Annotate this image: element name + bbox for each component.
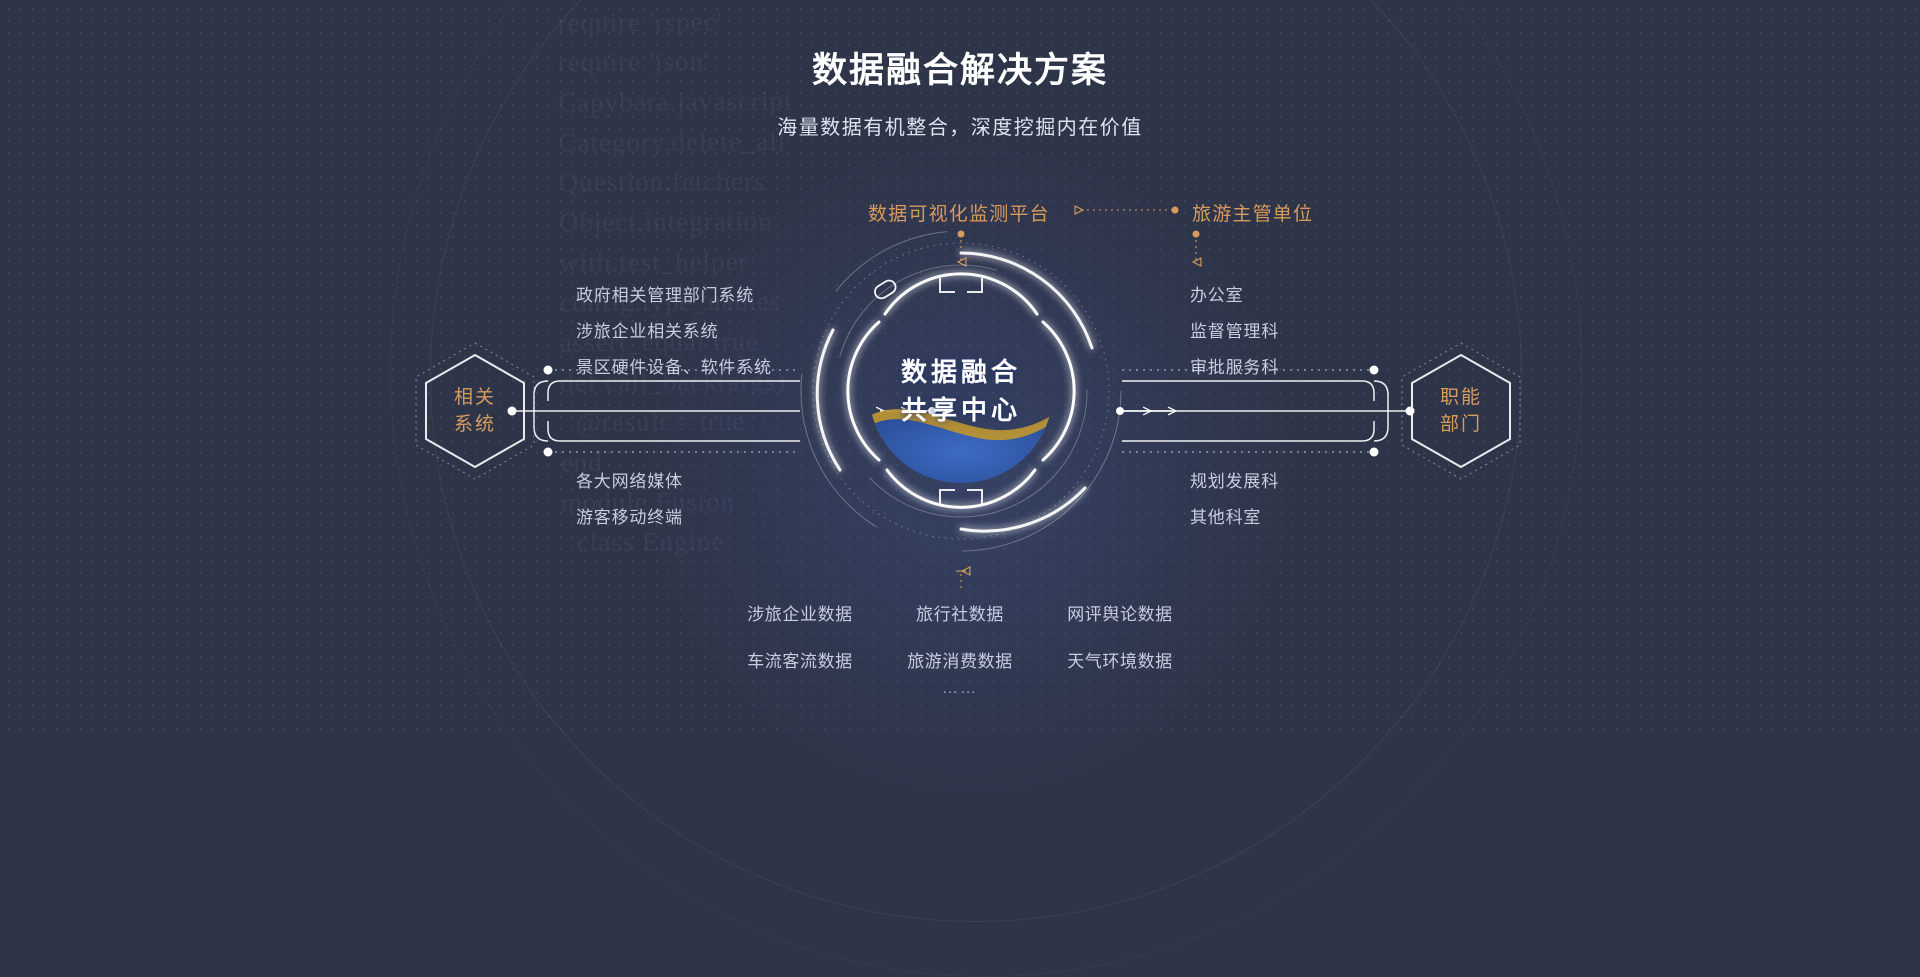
label-right-dept-0: 办公室: [1190, 281, 1243, 306]
core-label-line2: 共享中心: [901, 391, 1021, 429]
orange-dropper-right: [1193, 231, 1200, 263]
bottom-data-ellipsis: ……: [720, 680, 1200, 698]
label-data-visualization-platform[interactable]: 数据可视化监测平台: [868, 199, 1050, 226]
label-right-dept-1: 监督管理科: [1190, 317, 1279, 342]
bottom-data-item-1: 旅行社数据: [880, 600, 1040, 625]
bottom-data-item-5: 天气环境数据: [1040, 647, 1200, 672]
label-left-source-2: 景区硬件设备、软件系统: [576, 353, 772, 378]
label-right-dept-2: 审批服务科: [1190, 353, 1279, 378]
hexagon-right-line1: 职能: [1440, 384, 1482, 411]
label-left-source-3: 各大网络媒体: [576, 467, 683, 492]
top-orange-link: [1079, 207, 1179, 214]
right-connector-group: [1116, 366, 1415, 457]
label-tourism-authority[interactable]: 旅游主管单位: [1192, 199, 1313, 226]
hexagon-left-line2: 系统: [454, 411, 496, 438]
hexagon-right-line2: 部门: [1440, 411, 1482, 438]
core-label-line1: 数据融合: [901, 353, 1021, 391]
bottom-data-item-3: 车流客流数据: [720, 647, 880, 672]
hexagon-functional-departments[interactable]: 职能 部门: [1398, 341, 1524, 481]
hexagon-related-systems[interactable]: 相关 系统: [412, 341, 538, 481]
label-right-dept-3: 规划发展科: [1190, 467, 1279, 492]
label-left-source-4: 游客移动终端: [576, 503, 683, 528]
label-left-source-1: 涉旅企业相关系统: [576, 317, 718, 342]
core-label: 数据融合 共享中心: [808, 238, 1114, 544]
label-left-source-0: 政府相关管理部门系统: [576, 281, 754, 306]
bottom-data-item-4: 旅游消费数据: [880, 647, 1040, 672]
bottom-data-item-0: 涉旅企业数据: [720, 600, 880, 625]
core-node: 数据融合 共享中心: [808, 238, 1114, 544]
bottom-data-grid: 涉旅企业数据 旅行社数据 网评舆论数据 车流客流数据 旅游消费数据 天气环境数据: [720, 600, 1200, 672]
hexagon-left-label: 相关 系统: [412, 341, 538, 481]
bottom-data-item-2: 网评舆论数据: [1040, 600, 1200, 625]
hexagon-left-line1: 相关: [454, 384, 496, 411]
label-right-dept-4: 其他科室: [1190, 503, 1261, 528]
hexagon-right-label: 职能 部门: [1398, 341, 1524, 481]
orange-dropper-bottom: [956, 571, 966, 588]
